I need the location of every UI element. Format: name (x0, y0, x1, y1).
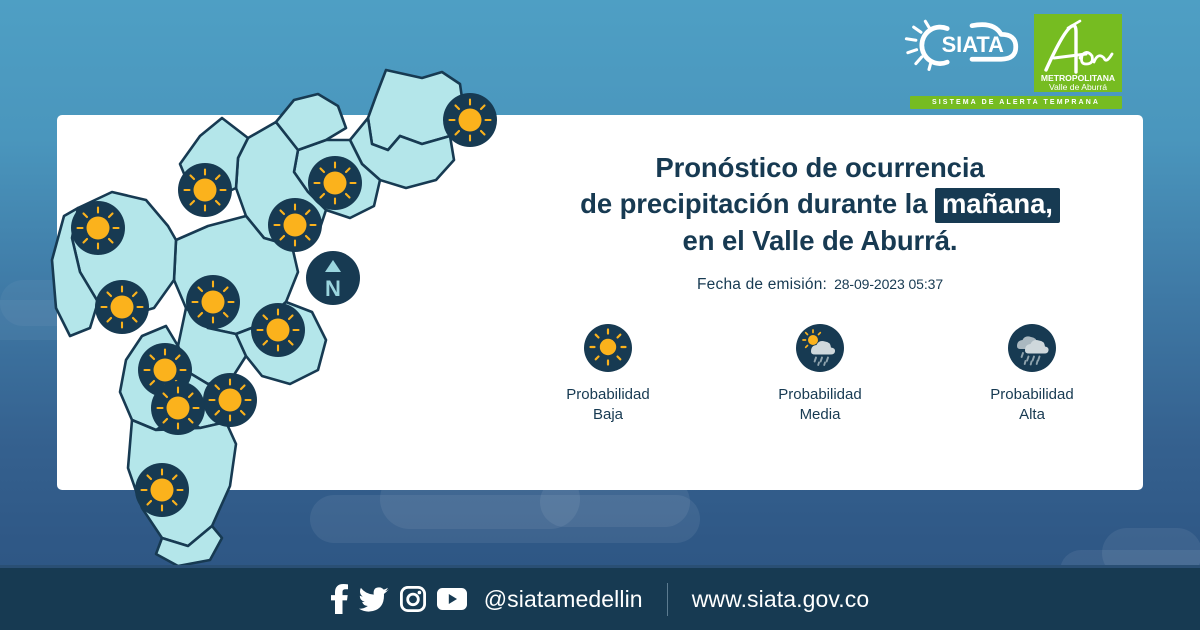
cloud-rain-icon (1008, 324, 1056, 372)
legend-label-line-2: Alta (990, 405, 1073, 425)
legend-label-alta: Probabilidad Alta (990, 385, 1073, 425)
map-marker (71, 201, 125, 255)
siata-logo: SIATA (902, 14, 1026, 74)
legend-label-line-1: Probabilidad (778, 385, 861, 405)
map-marker (251, 303, 305, 357)
logo-group: SIATA METROPOLITANA Valle de Aburrá (902, 14, 1122, 92)
siata-tagline: SISTEMA DE ALERTA TEMPRANA (910, 96, 1122, 109)
am-line2: Valle de Aburrá (1049, 82, 1107, 92)
map-marker (203, 373, 257, 427)
instagram-icon[interactable] (400, 586, 426, 612)
area-metropolitana-logo: METROPOLITANA Valle de Aburrá (1034, 14, 1122, 92)
sun-rain-icon (796, 324, 844, 372)
facebook-icon[interactable] (331, 584, 348, 614)
sun-icon (584, 324, 632, 372)
map-marker (151, 381, 205, 435)
legend-item-alta: Probabilidad Alta (966, 324, 1098, 425)
map-marker (178, 163, 232, 217)
emission-date: Fecha de emisión: 28-09-2023 05:37 (520, 276, 1120, 294)
youtube-icon[interactable] (437, 588, 467, 610)
siata-wordmark: SIATA (942, 32, 1005, 57)
compass-rose: N (306, 251, 360, 305)
emission-date-label: Fecha de emisión: (697, 276, 827, 294)
page-title: Pronóstico de ocurrencia de precipitació… (520, 150, 1120, 258)
emission-date-value: 28-09-2023 05:37 (834, 276, 943, 292)
legend-label-line-1: Probabilidad (566, 385, 649, 405)
map-marker (95, 280, 149, 334)
compass-label: N (325, 276, 341, 301)
map-marker (186, 275, 240, 329)
headline-line-2: de precipitación durante la mañana, (520, 186, 1120, 223)
website-url[interactable]: www.siata.gov.co (692, 586, 870, 613)
footer-bar: @siatamedellin www.siata.gov.co (0, 568, 1200, 630)
social-icon-group (331, 584, 467, 614)
headline-highlight: mañana, (935, 188, 1060, 223)
legend-label-line-2: Media (778, 405, 861, 425)
legend-label-line-1: Probabilidad (990, 385, 1073, 405)
headline-line-1: Pronóstico de ocurrencia (520, 150, 1120, 186)
legend-item-media: Probabilidad Media (754, 324, 886, 425)
legend-item-baja: Probabilidad Baja (542, 324, 674, 425)
probability-legend: Probabilidad Baja (520, 324, 1120, 425)
map-marker (135, 463, 189, 517)
social-handle[interactable]: @siatamedellin (484, 586, 643, 613)
legend-label-media: Probabilidad Media (778, 385, 861, 425)
map-svg: N (50, 40, 470, 580)
headline-line-3: en el Valle de Aburrá. (520, 223, 1120, 259)
map-marker (308, 156, 362, 210)
map-marker (268, 198, 322, 252)
legend-label-baja: Probabilidad Baja (566, 385, 649, 425)
siata-tagline-text: SISTEMA DE ALERTA TEMPRANA (932, 99, 1100, 106)
map-marker (443, 93, 497, 147)
twitter-icon[interactable] (359, 586, 389, 612)
valle-de-aburra-map: N (50, 40, 470, 580)
forecast-content: Pronóstico de ocurrencia de precipitació… (520, 150, 1120, 425)
legend-label-line-2: Baja (566, 405, 649, 425)
footer-divider (667, 583, 668, 616)
headline-line-2-text: de precipitación durante la (580, 188, 927, 219)
